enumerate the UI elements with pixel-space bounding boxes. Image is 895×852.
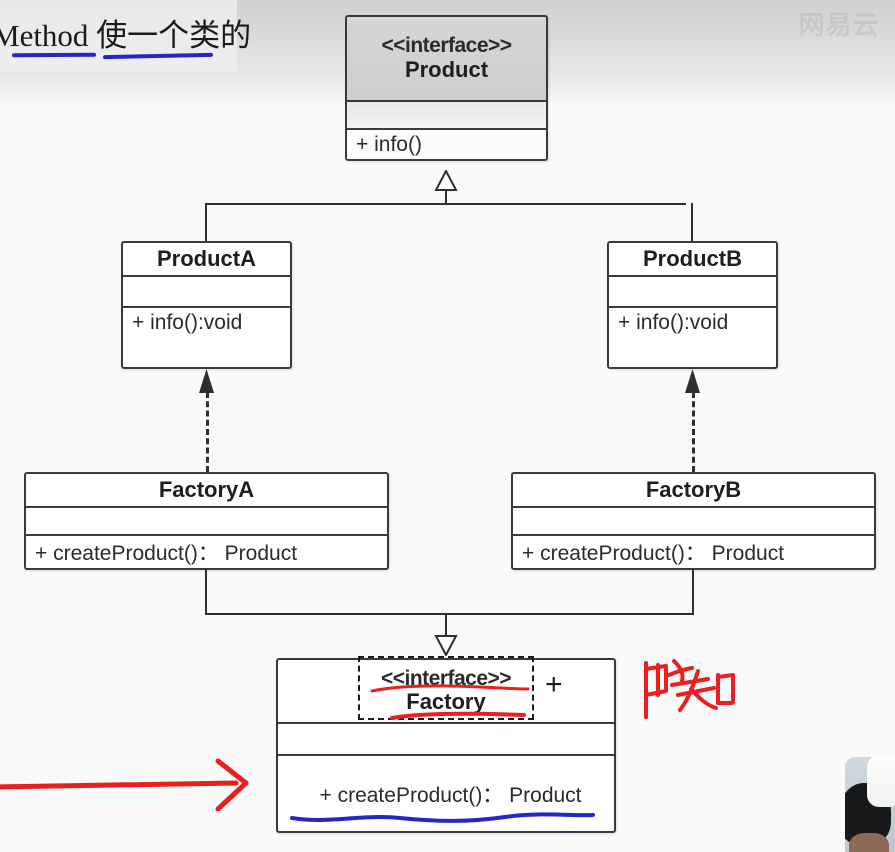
uml-class-factoryA[interactable]: FactoryA + createProduct()： Product [24,472,389,570]
webcam-face [849,833,889,852]
watermark-text: 网易云 [791,6,887,46]
uml-class-productA[interactable]: ProductA + info():void [121,241,292,369]
productB-operations-compartment: + info():void [609,308,776,367]
uml-class-factoryB[interactable]: FactoryB + createProduct()： Product [511,472,876,570]
factoryA-operation-0: + createProduct()： Product [35,537,297,567]
connector-productB-riser [691,203,693,243]
handwritten-chinese-note [636,655,736,730]
product-operation-0: + info() [356,133,422,157]
connector-factoryB-dependency [692,392,695,472]
uml-class-productB[interactable]: ProductB + info():void [607,241,778,369]
presenter-video-overlay[interactable] [845,757,895,852]
product-stereotype: <<interface>> [381,34,511,58]
pointer-arrow-right [0,755,256,816]
productA-attributes-compartment [123,277,290,308]
screenshot-canvas: 网易云 Method 使一个类的 <<interf [0,0,895,852]
product-class-name: Product [405,58,488,83]
factoryA-attributes-compartment [26,508,387,536]
connector-factoryA-dependency [206,392,209,472]
product-title-compartment: <<interface>> Product [347,17,546,102]
blue-underline-method [290,810,595,831]
productA-class-name: ProductA [157,247,256,272]
connector-productA-riser [205,203,207,243]
crosshair-plus-cursor: + [545,670,563,700]
factoryA-class-name: FactoryA [159,478,254,503]
factoryB-operation-0: + createProduct()： Product [522,537,784,567]
arrow-dependency-productA [197,369,216,393]
arrow-realization-factory [434,634,458,656]
factoryB-attributes-compartment [513,508,874,536]
arrow-dependency-productB [683,369,702,393]
productB-attributes-compartment [609,277,776,308]
red-underline-classname [390,710,526,728]
factoryA-operations-compartment: + createProduct()： Product [26,536,387,568]
arrow-realization-product [434,170,458,192]
factory-operation-0: + createProduct()： Product [319,779,581,809]
factoryB-operations-compartment: + createProduct()： Product [513,536,874,568]
product-operations-compartment: + info() [347,130,546,159]
red-underline-stereotype [370,682,530,700]
headline-underline-1 [12,53,96,58]
connector-factory-bus [205,613,694,615]
page-title: Method 使一个类的 [0,10,251,55]
productA-operation-0: + info():void [132,311,242,335]
webcam-rounded-panel [867,757,895,807]
factoryA-title-compartment: FactoryA [26,474,387,508]
factory-attributes-compartment [278,724,614,756]
connector-product-bus [206,203,686,205]
productA-operations-compartment: + info():void [123,308,290,367]
factoryB-title-compartment: FactoryB [513,474,874,508]
product-attributes-compartment [347,102,546,130]
productB-operation-0: + info():void [618,311,728,335]
uml-class-product[interactable]: <<interface>> Product + info() [345,15,548,161]
productB-class-name: ProductB [643,247,742,272]
connector-factoryB-drop [692,570,694,615]
productB-title-compartment: ProductB [609,243,776,277]
productA-title-compartment: ProductA [123,243,290,277]
factoryB-class-name: FactoryB [646,478,741,503]
connector-factoryA-drop [205,570,207,615]
